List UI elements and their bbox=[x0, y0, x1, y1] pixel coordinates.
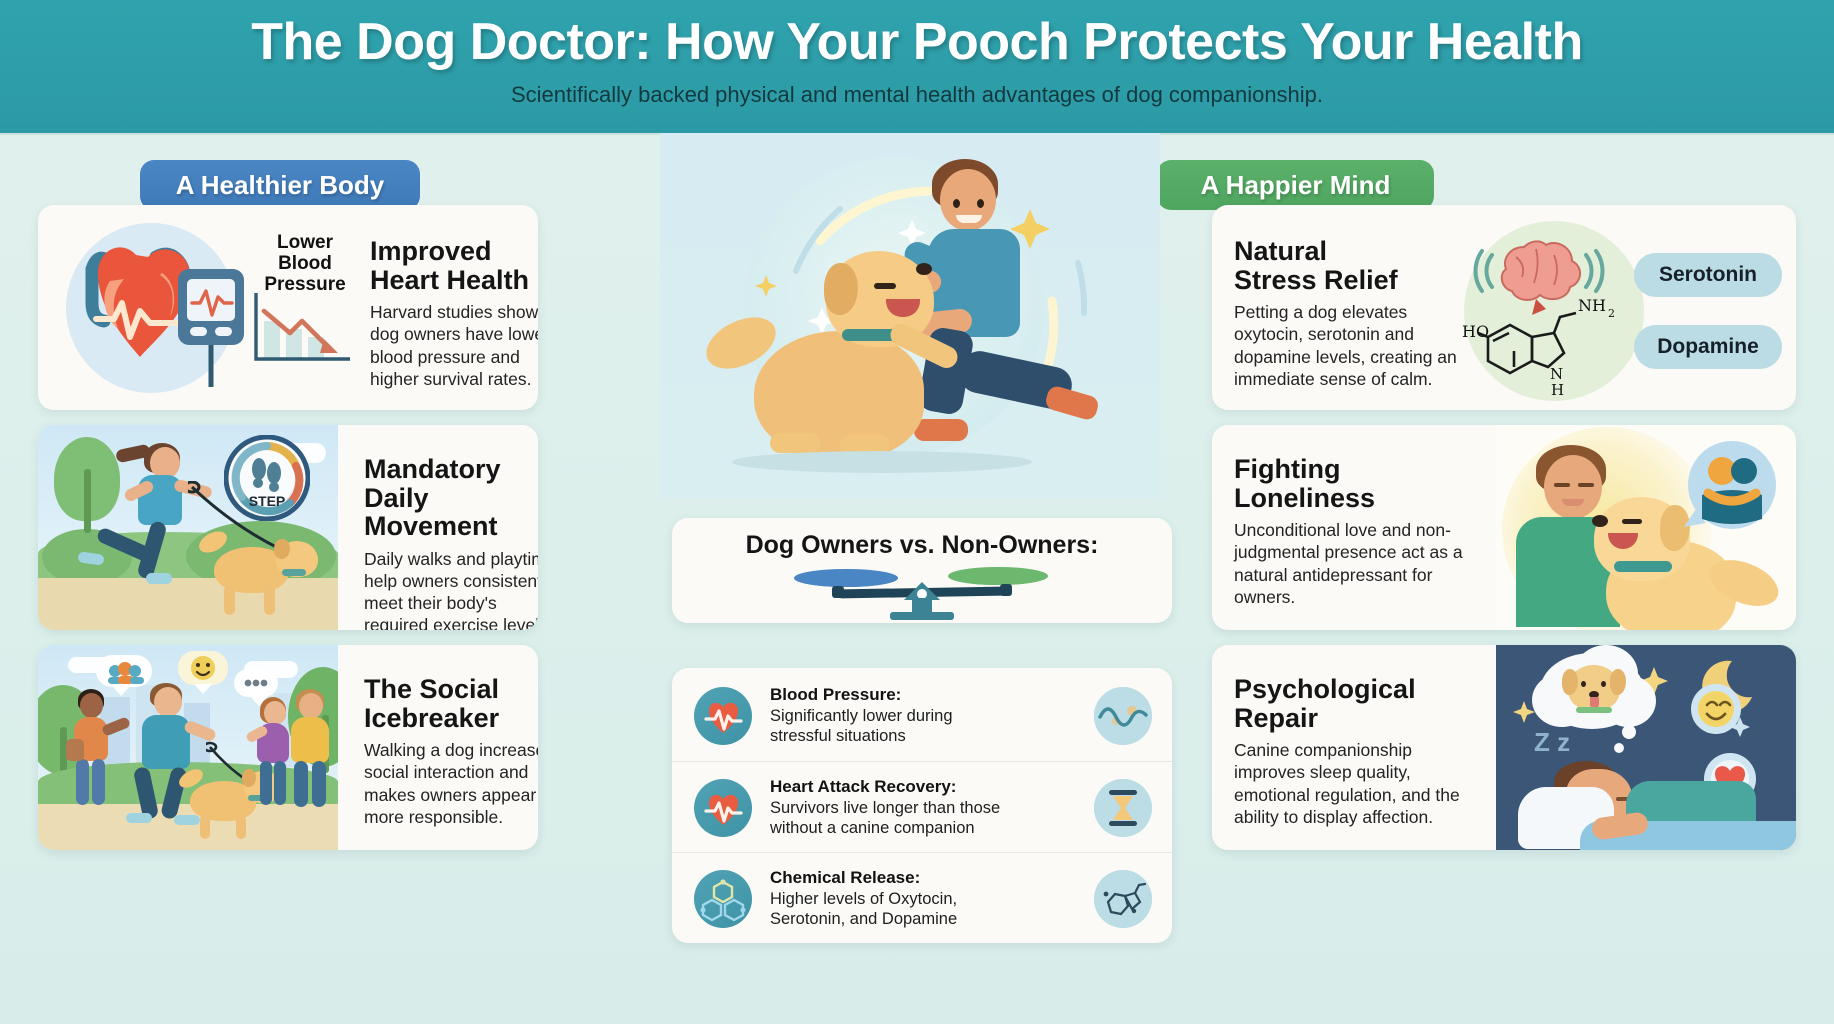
card-title: Natural Stress Relief bbox=[1234, 237, 1459, 294]
heart-card-text: Improved Heart Health Harvard studies sh… bbox=[370, 237, 538, 390]
card-title: The Social Icebreaker bbox=[364, 675, 538, 732]
card-description: Petting a dog elevates oxytocin, seroton… bbox=[1234, 301, 1459, 390]
infographic-page: The Dog Doctor: How Your Pooch Protects … bbox=[0, 0, 1834, 1024]
card-title: Fighting Loneliness bbox=[1234, 455, 1484, 512]
card-improved-heart-health: Lower Blood Pressure Improved Heart Heal… bbox=[38, 205, 538, 410]
card-psychological-repair: Psychological Repair Canine companionshi… bbox=[1212, 645, 1796, 850]
hourglass-icon bbox=[1094, 779, 1152, 837]
stat-desc-line1: Higher levels of Oxytocin, bbox=[770, 889, 1094, 909]
page-title: The Dog Doctor: How Your Pooch Protects … bbox=[0, 12, 1834, 72]
stat-label: Blood Pressure: bbox=[770, 685, 1094, 705]
card-title: Improved Heart Health bbox=[370, 237, 538, 294]
movement-card-text: Mandatory Daily Movement Daily walks and… bbox=[364, 455, 538, 630]
card-title: Mandatory Daily Movement bbox=[364, 455, 538, 541]
card-natural-stress-relief: Natural Stress Relief Petting a dog elev… bbox=[1212, 205, 1796, 410]
stats-panel: Blood Pressure: Significantly lower duri… bbox=[672, 668, 1172, 943]
stat-desc-line1: Significantly lower during bbox=[770, 706, 1094, 726]
card-description: Daily walks and playtime help owners con… bbox=[364, 548, 538, 630]
svg-text:H: H bbox=[1551, 381, 1564, 399]
comparison-panel: Dog Owners vs. Non-Owners: bbox=[672, 518, 1172, 623]
stat-desc-line2: Serotonin, and Dopamine bbox=[770, 909, 1094, 929]
card-description: Harvard studies show dog owners have low… bbox=[370, 301, 538, 390]
man-hugging-dog-illustration bbox=[1496, 425, 1796, 630]
stat-text: Chemical Release: Higher levels of Oxyto… bbox=[770, 868, 1094, 929]
stat-row: Chemical Release: Higher levels of Oxyto… bbox=[672, 852, 1172, 944]
chip-dopamine: Dopamine bbox=[1634, 325, 1782, 369]
page-subtitle: Scientifically backed physical and menta… bbox=[0, 82, 1834, 108]
balance-scale-icon bbox=[772, 560, 1072, 622]
social-walk-illustration bbox=[38, 645, 338, 850]
card-description: Unconditional love and non-judgmental pr… bbox=[1234, 519, 1484, 608]
card-title: Psychological Repair bbox=[1234, 675, 1486, 732]
stat-label: Chemical Release: bbox=[770, 868, 1094, 888]
smiley-bubble-icon bbox=[178, 651, 228, 685]
hero-illustration-man-petting-dog bbox=[660, 133, 1160, 498]
serotonin-molecule-icon bbox=[1094, 870, 1152, 928]
chat-dots-bubble-icon bbox=[234, 669, 278, 697]
brain-molecule-illustration: HO NH 2 N H bbox=[1458, 211, 1654, 407]
heartbeat-icon bbox=[694, 779, 752, 837]
card-the-social-icebreaker: The Social Icebreaker Walking a dog incr… bbox=[38, 645, 538, 850]
stat-desc-line2: without a canine companion bbox=[770, 818, 1094, 838]
card-description: Walking a dog increases social interacti… bbox=[364, 739, 538, 828]
molecule-icon bbox=[694, 870, 752, 928]
care-hug-icon bbox=[1674, 437, 1782, 541]
stat-row: Heart Attack Recovery: Survivors live lo… bbox=[672, 761, 1172, 853]
people-bubble-icon bbox=[96, 655, 152, 687]
stress-card-text: Natural Stress Relief Petting a dog elev… bbox=[1234, 237, 1459, 390]
card-fighting-loneliness: Fighting Loneliness Unconditional love a… bbox=[1212, 425, 1796, 630]
section-pill-happier-mind: A Happier Mind bbox=[1157, 160, 1434, 210]
wave-chart-icon bbox=[1094, 687, 1152, 745]
stat-label: Heart Attack Recovery: bbox=[770, 777, 1094, 797]
svg-text:HO: HO bbox=[1462, 322, 1489, 341]
comparison-title: Dog Owners vs. Non-Owners: bbox=[672, 531, 1172, 560]
page-header: The Dog Doctor: How Your Pooch Protects … bbox=[0, 0, 1834, 133]
stat-row: Blood Pressure: Significantly lower duri… bbox=[672, 670, 1172, 761]
jogging-with-dog-illustration: STEP bbox=[38, 425, 338, 630]
sleep-zzz-label: Z z bbox=[1534, 727, 1570, 758]
step-badge-label: STEP bbox=[224, 493, 310, 509]
repair-card-text: Psychological Repair Canine companionshi… bbox=[1234, 675, 1486, 828]
serotonin-structure-icon bbox=[1478, 313, 1576, 373]
stat-desc-line2: stressful situations bbox=[770, 726, 1094, 746]
sleeping-dreaming-illustration: Z z bbox=[1496, 645, 1796, 850]
section-pill-healthier-body: A Healthier Body bbox=[140, 160, 420, 210]
stat-text: Heart Attack Recovery: Survivors live lo… bbox=[770, 777, 1094, 838]
chip-serotonin: Serotonin bbox=[1634, 253, 1782, 297]
declining-chart-icon bbox=[246, 287, 356, 369]
loneliness-card-text: Fighting Loneliness Unconditional love a… bbox=[1234, 455, 1484, 608]
heartbeat-icon bbox=[694, 687, 752, 745]
blood-pressure-monitor-icon bbox=[176, 267, 254, 397]
svg-text:2: 2 bbox=[1608, 307, 1615, 320]
card-description: Canine companionship improves sleep qual… bbox=[1234, 739, 1486, 828]
social-card-text: The Social Icebreaker Walking a dog incr… bbox=[364, 675, 538, 828]
brain-icon bbox=[1502, 241, 1580, 315]
card-mandatory-daily-movement: STEP Mandatory Daily Movement Daily walk… bbox=[38, 425, 538, 630]
svg-text:NH: NH bbox=[1578, 296, 1606, 315]
stat-text: Blood Pressure: Significantly lower duri… bbox=[770, 685, 1094, 746]
stat-desc-line1: Survivors live longer than those bbox=[770, 798, 1094, 818]
